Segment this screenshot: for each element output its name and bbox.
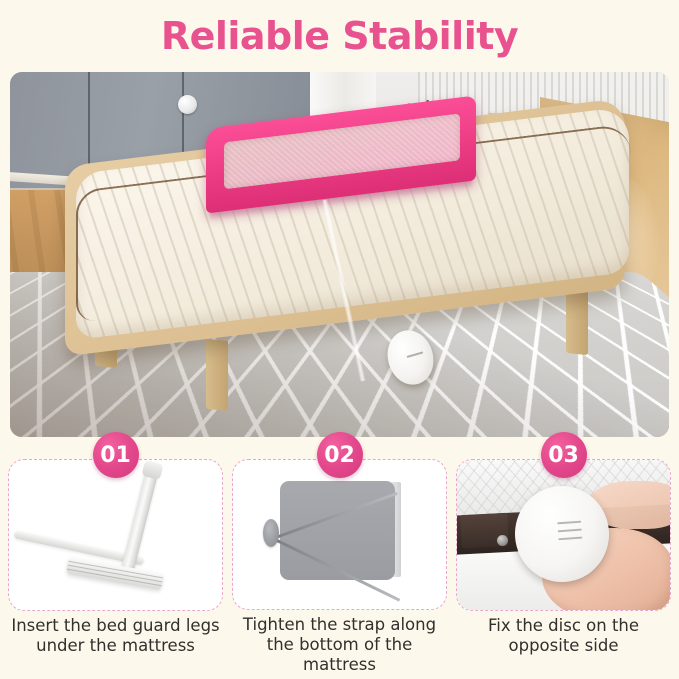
guard-leg-icon	[9, 460, 222, 610]
step-illustration-2	[232, 459, 447, 610]
hero-image	[10, 72, 669, 437]
step-badge-3: 03	[541, 432, 587, 478]
step-illustration-3	[456, 459, 671, 611]
wardrobe-handle-icon	[178, 95, 197, 114]
step-caption-2: Tighten the strap along the bottom of th…	[232, 615, 447, 675]
disc-icon	[263, 519, 279, 547]
hero-scene	[10, 72, 669, 437]
page-title: Reliable Stability	[0, 14, 679, 58]
mattress-strap-icon	[233, 460, 446, 609]
hand-disc-photo	[457, 460, 670, 610]
step-card-2: 02 Tighten the strap along the bottom of…	[232, 450, 447, 675]
step-badge-2: 02	[317, 432, 363, 478]
step-card-1: 01 Insert the bed guard legs under the m…	[8, 450, 223, 675]
step-caption-3: Fix the disc on the opposite side	[456, 616, 671, 656]
step-caption-1: Insert the bed guard legs under the matt…	[8, 616, 223, 656]
step-card-3: 03 Fix the disc on the o	[456, 450, 671, 675]
step-illustration-1	[8, 459, 223, 611]
step-badge-1: 01	[93, 432, 139, 478]
infographic-page: Reliable Stability	[0, 0, 679, 679]
bed-leg	[206, 339, 228, 411]
steps-row: 01 Insert the bed guard legs under the m…	[8, 450, 671, 675]
